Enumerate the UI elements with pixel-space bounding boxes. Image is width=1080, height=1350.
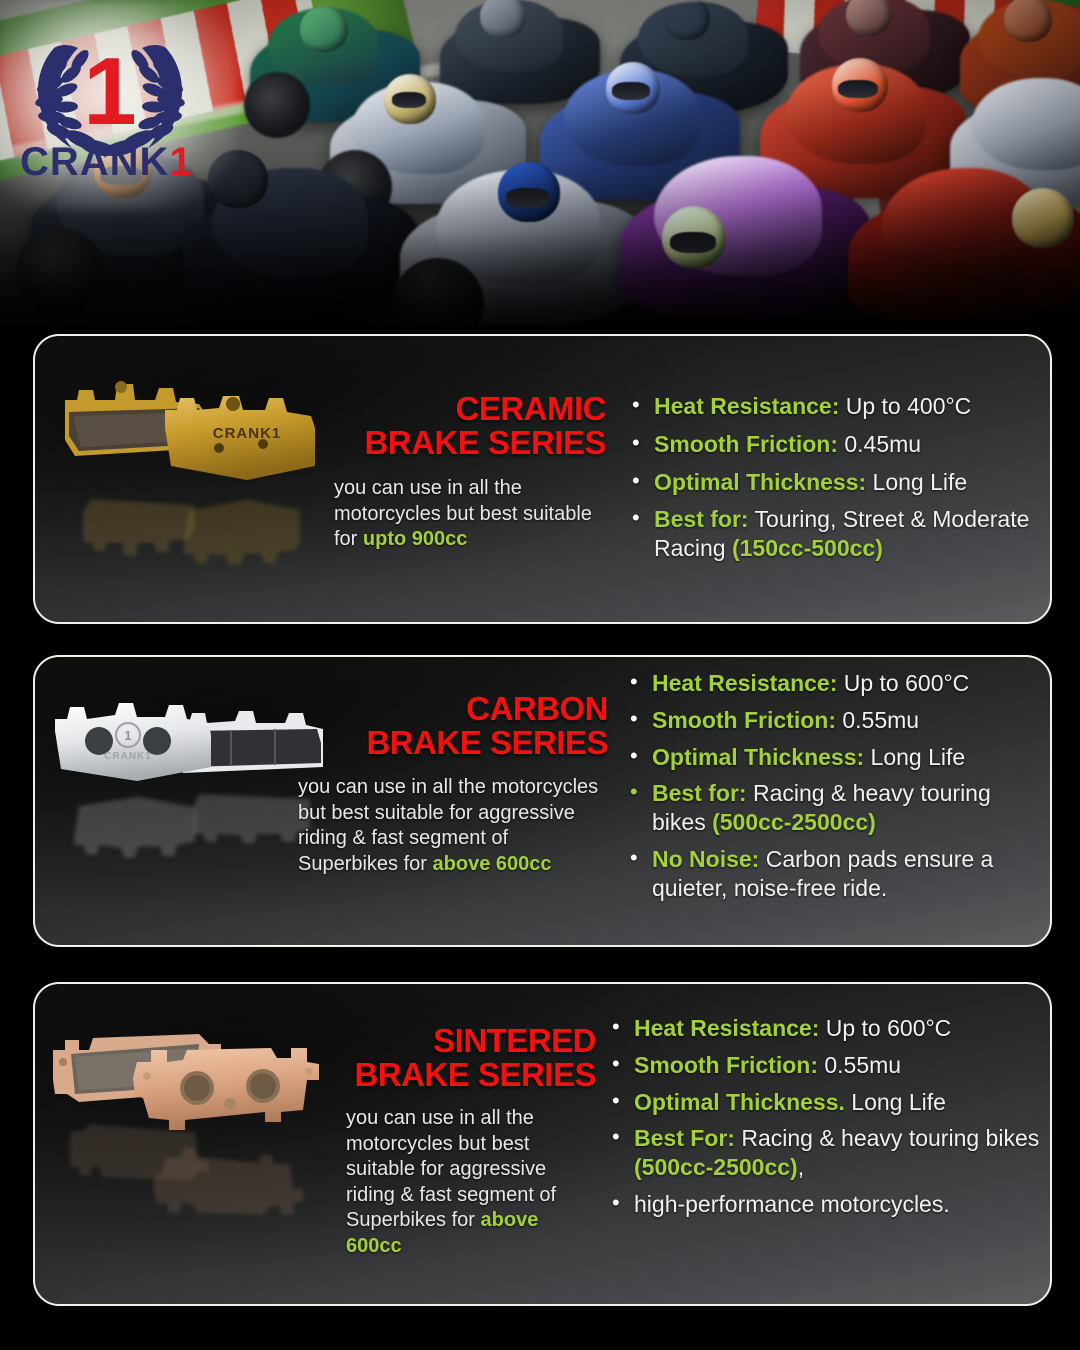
product-card-carbon[interactable]: 1 CRANK1 CARBON BRAKE SERIES you can use… <box>33 655 1052 947</box>
spec-comma: , <box>798 1154 804 1180</box>
carbon-description: you can use in all the motorcycles but b… <box>298 775 608 877</box>
spec-label: Best for: <box>652 780 747 806</box>
spec-value: 0.55mu <box>836 707 919 733</box>
sintered-pad-rear-reflection <box>51 1116 227 1182</box>
spec-value: Up to 600°C <box>837 670 969 696</box>
list-item: Optimal Thickness: Long Life <box>626 743 1050 772</box>
list-item: Smooth Friction: 0.45mu <box>628 430 1052 459</box>
ceramic-title-line2: BRAKE SERIES <box>364 426 606 460</box>
carbon-title-line2: BRAKE SERIES <box>366 726 608 760</box>
spec-label: Optimal Thickness: <box>654 469 866 495</box>
spec-label: Heat Resistance: <box>652 670 837 696</box>
carbon-pad-front: 1 CRANK1 <box>53 701 213 791</box>
sintered-title-line1: SINTERED <box>433 1022 596 1059</box>
ceramic-title-line1: CERAMIC <box>456 390 607 427</box>
sintered-spec-column: Heat Resistance: Up to 600°C Smooth Fric… <box>606 984 1050 1304</box>
brand-word-suffix: 1 <box>169 140 191 184</box>
product-card-ceramic[interactable]: CRANK1 CERAMIC BRAKE SERIES you can use … <box>33 334 1052 624</box>
sintered-text-column: SINTERED BRAKE SERIES you can use in all… <box>327 984 606 1304</box>
ceramic-spec-list: Heat Resistance: Up to 400°C Smooth Fric… <box>628 392 1052 572</box>
product-image-ceramic: CRANK1 <box>35 336 327 622</box>
spec-range: (150cc-500cc) <box>732 535 883 561</box>
brand-logo: 1 CRANK1 <box>14 12 210 187</box>
spec-label: Heat Resistance: <box>634 1015 819 1041</box>
ceramic-pad-front: CRANK1 <box>161 394 319 490</box>
spec-value: 0.55mu <box>818 1052 901 1078</box>
product-image-sintered <box>35 984 327 1304</box>
carbon-text-column: CARBON BRAKE SERIES you can use in all t… <box>327 657 620 945</box>
spec-label: Smooth Friction: <box>634 1052 818 1078</box>
list-item: No Noise: Carbon pads ensure a quieter, … <box>626 845 1050 903</box>
ceramic-text-column: CERAMIC BRAKE SERIES you can use in all … <box>327 336 620 622</box>
carbon-title-line1: CARBON <box>466 690 608 727</box>
list-item: Heat Resistance: Up to 400°C <box>628 392 1052 421</box>
list-item: Best for: Touring, Street & Moderate Rac… <box>628 505 1052 563</box>
spec-value: Up to 400°C <box>839 393 971 419</box>
svg-text:CRANK1: CRANK1 <box>213 425 282 442</box>
carbon-spec-column: Heat Resistance: Up to 600°C Smooth Fric… <box>620 657 1050 945</box>
spec-range: (500cc-2500cc) <box>634 1154 798 1180</box>
ceramic-title: CERAMIC BRAKE SERIES <box>364 392 606 461</box>
carbon-title: CARBON BRAKE SERIES <box>366 692 608 761</box>
sintered-spec-list: Heat Resistance: Up to 600°C Smooth Fric… <box>608 1014 1046 1227</box>
rank-numeral: 1 <box>83 38 136 145</box>
brand-wordmark: CRANK1 <box>20 140 210 185</box>
svg-text:CRANK1: CRANK1 <box>104 751 152 762</box>
carbon-capacity-highlight: above 600cc <box>433 853 552 875</box>
spec-label: Optimal Thickness: <box>652 744 864 770</box>
list-item: Best for: Racing & heavy touring bikes (… <box>626 779 1050 837</box>
spec-value: high-performance motorcycles. <box>634 1191 950 1217</box>
list-item: Smooth Friction: 0.55mu <box>608 1051 1046 1080</box>
ceramic-spec-column: Heat Resistance: Up to 400°C Smooth Fric… <box>620 336 1050 622</box>
spec-value: Long Life <box>864 744 965 770</box>
list-item: Best For: Racing & heavy touring bikes (… <box>608 1124 1046 1182</box>
hero-banner: 1 CRANK1 <box>0 0 1080 340</box>
spec-label: Smooth Friction: <box>652 707 836 733</box>
list-item: Optimal Thickness. Long Life <box>608 1088 1046 1117</box>
ceramic-pad-front-reflection <box>163 492 321 566</box>
list-item: Smooth Friction: 0.55mu <box>626 706 1050 735</box>
spec-value: Long Life <box>845 1089 946 1115</box>
spec-label: No Noise: <box>652 846 759 872</box>
spec-value: Long Life <box>866 469 967 495</box>
spec-value: Racing & heavy touring bikes <box>735 1125 1039 1151</box>
ceramic-capacity-highlight: upto 900cc <box>363 528 467 550</box>
spec-value: 0.45mu <box>838 431 921 457</box>
spec-label: Smooth Friction: <box>654 431 838 457</box>
sintered-title-line2: BRAKE SERIES <box>354 1058 596 1092</box>
product-card-sintered[interactable]: SINTERED BRAKE SERIES you can use in all… <box>33 982 1052 1306</box>
spec-label: Heat Resistance: <box>654 393 839 419</box>
sintered-title: SINTERED BRAKE SERIES <box>354 1024 596 1093</box>
spec-range: (500cc-2500cc) <box>712 809 876 835</box>
ceramic-description: you can use in all the motorcycles but b… <box>334 476 606 553</box>
carbon-spec-list: Heat Resistance: Up to 600°C Smooth Fric… <box>626 669 1050 910</box>
spec-value: Up to 600°C <box>819 1015 951 1041</box>
product-image-carbon: 1 CRANK1 <box>35 657 327 945</box>
list-item: Heat Resistance: Up to 600°C <box>626 669 1050 698</box>
brand-word-main: CRANK <box>20 140 169 184</box>
sintered-description: you can use in all the motorcycles but b… <box>346 1106 596 1260</box>
spec-label: Optimal Thickness. <box>634 1089 845 1115</box>
spec-label: Best for: <box>654 506 749 532</box>
spec-label: Best For: <box>634 1125 735 1151</box>
list-item: high-performance motorcycles. <box>608 1190 1046 1219</box>
svg-text:1: 1 <box>124 728 131 743</box>
list-item: Heat Resistance: Up to 600°C <box>608 1014 1046 1043</box>
list-item: Optimal Thickness: Long Life <box>628 468 1052 497</box>
